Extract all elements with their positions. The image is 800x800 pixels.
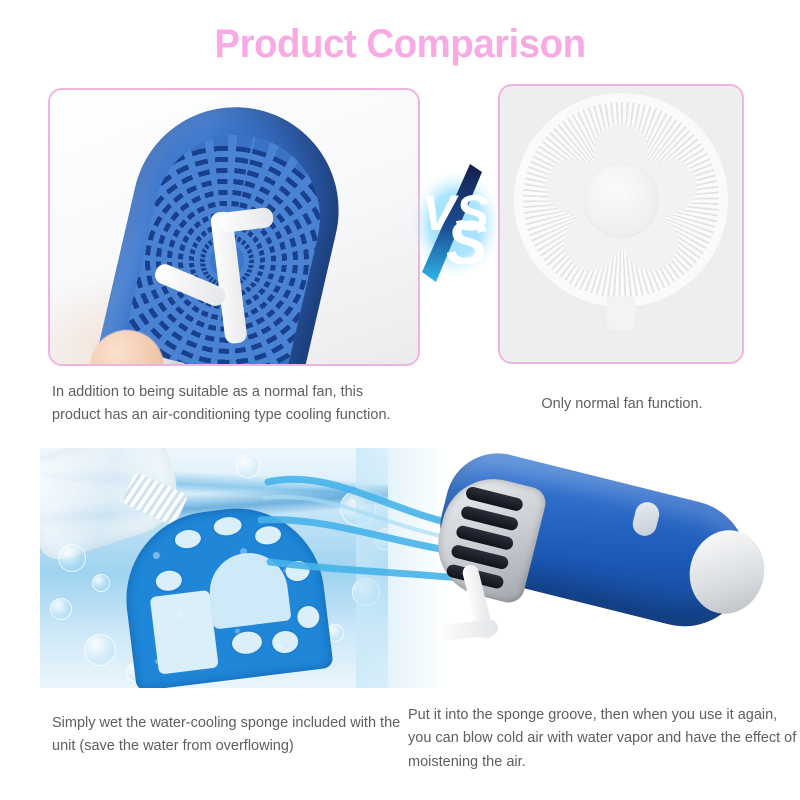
blue-cooling-fan-head-image xyxy=(50,90,418,364)
white-fan-ring xyxy=(523,102,719,298)
bubble xyxy=(92,574,110,592)
bubble xyxy=(236,454,260,478)
caption-bottom-right: Put it into the sponge groove, then when… xyxy=(408,704,798,774)
page-title: Product Comparison xyxy=(16,22,784,67)
handheld-fan-image xyxy=(388,448,766,688)
comparison-image-left-frame xyxy=(48,88,420,366)
white-round-fan-image xyxy=(500,86,742,362)
vs-badge-letter-s: S xyxy=(446,209,487,278)
bubble xyxy=(58,544,86,572)
caption-left: In addition to being suitable as a norma… xyxy=(52,381,412,428)
bottom-composite-image xyxy=(40,448,766,688)
sponge-rect-hole xyxy=(150,590,219,675)
white-fan-hub xyxy=(583,162,659,238)
caption-right: Only normal fan function. xyxy=(498,393,746,416)
vs-badge: VS S xyxy=(412,164,500,284)
holder-bar-top xyxy=(218,207,274,233)
bubble xyxy=(84,634,116,666)
white-fan-neck xyxy=(607,296,635,330)
blue-handheld-fan xyxy=(432,472,762,632)
caption-bottom-left: Simply wet the water-cooling sponge incl… xyxy=(52,712,404,759)
bubble xyxy=(50,598,72,620)
comparison-image-right-frame xyxy=(498,84,744,364)
vs-badge-graphic: VS S xyxy=(412,164,500,284)
